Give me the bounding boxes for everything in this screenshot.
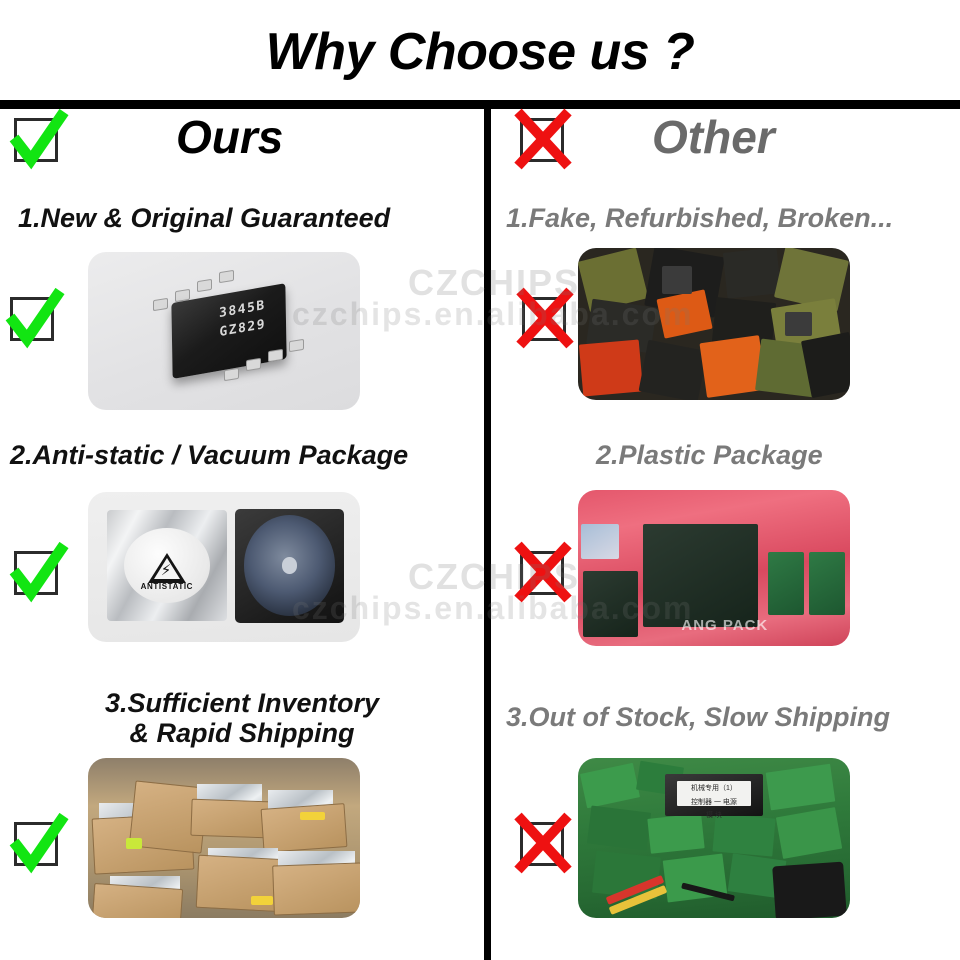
check-glyph <box>6 541 68 603</box>
cross-icon <box>512 541 574 603</box>
other-caption-2: 2.Plastic Package <box>596 440 956 470</box>
column-header-other: Other <box>652 110 775 164</box>
cross-icon <box>512 812 574 874</box>
page-title: Why Choose us ? <box>0 22 960 82</box>
column-header-ours: Ours <box>176 110 283 164</box>
tape-reel <box>244 515 335 615</box>
bag-disc: ⚡ ANTISTATIC <box>124 528 210 603</box>
module-label-line1: 机械专用（1） <box>677 784 751 795</box>
plastic-bag-pcb-photo: ANG PACK <box>578 490 850 646</box>
cross-glyph <box>512 108 574 170</box>
lightning-bolt-icon: ⚡ <box>161 563 172 578</box>
ours-caption-2: 2.Anti-static / Vacuum Package <box>10 440 480 470</box>
check-glyph <box>6 108 68 170</box>
module-label-line3: 模 块 <box>677 811 751 822</box>
cross-icon <box>514 287 576 349</box>
check-glyph <box>6 812 68 874</box>
other-caption-1: 1.Fake, Refurbished, Broken... <box>506 203 956 233</box>
ours-caption-1: 1.New & Original Guaranteed <box>18 203 468 233</box>
reel-hub <box>282 557 297 573</box>
plastic-bag-scene: ANG PACK <box>578 490 850 646</box>
green-scrap-scene: 机械专用（1） 控制器 一 电源 模 块 <box>578 758 850 918</box>
chip-scene: 3845B GZ829 <box>88 252 360 410</box>
module-label: 机械专用（1） 控制器 一 电源 模 块 <box>677 781 751 805</box>
green-pcb-scrap-photo: 机械专用（1） 控制器 一 电源 模 块 <box>578 758 850 918</box>
boxes-scene <box>88 758 360 918</box>
cross-glyph <box>514 287 576 349</box>
warehouse-boxes-photo <box>88 758 360 918</box>
bag-print-text: ANG PACK <box>681 617 768 634</box>
cross-glyph <box>512 541 574 603</box>
check-icon <box>6 541 68 603</box>
column-divider <box>484 104 491 960</box>
module-label-line2: 控制器 一 电源 <box>677 798 751 809</box>
check-icon <box>2 287 64 349</box>
antistatic-bag-and-reel-photo: ⚡ ANTISTATIC <box>88 492 360 642</box>
ours-caption-3: 3.Sufficient Inventory & Rapid Shipping <box>22 688 462 748</box>
antistatic-label: ANTISTATIC <box>124 582 210 591</box>
sop8-chip-photo: 3845B GZ829 <box>88 252 360 410</box>
antistatic-scene: ⚡ ANTISTATIC <box>88 492 360 642</box>
antistatic-bag: ⚡ ANTISTATIC <box>107 510 227 621</box>
cross-icon <box>512 108 574 170</box>
other-caption-3: 3.Out of Stock, Slow Shipping <box>506 702 956 732</box>
header-divider <box>0 100 960 109</box>
cross-glyph <box>512 812 574 874</box>
black-module: 机械专用（1） 控制器 一 电源 模 块 <box>665 774 763 816</box>
check-icon <box>6 108 68 170</box>
scrap-cpu-pile-photo <box>578 248 850 400</box>
infographic-page: Why Choose us ? Ours Other 1.New & Origi… <box>0 0 960 960</box>
reel-case <box>235 509 344 623</box>
check-icon <box>6 812 68 874</box>
check-glyph <box>2 287 64 349</box>
scrap-scene <box>578 248 850 400</box>
